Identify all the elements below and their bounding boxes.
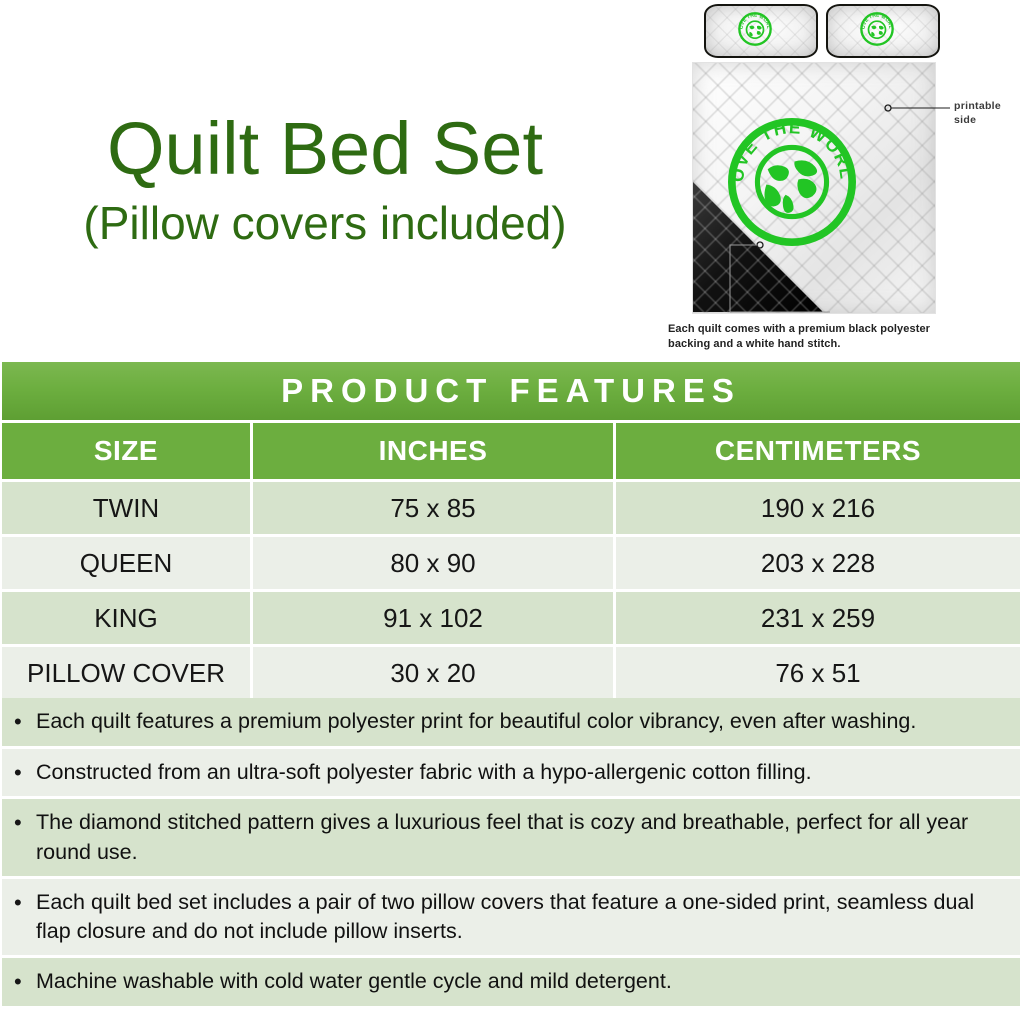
table-row: KING 91 x 102 231 x 259: [2, 592, 1020, 644]
bullet-text: Each quilt bed set includes a pair of tw…: [36, 888, 1010, 946]
bullet-marker-icon: •: [14, 888, 36, 918]
bullet-marker-icon: •: [14, 808, 36, 838]
cell-inches: 80 x 90: [253, 537, 613, 589]
cell-centimeters: 231 x 259: [616, 592, 1020, 644]
table-row: TWIN 75 x 85 190 x 216: [2, 482, 1020, 534]
list-item: • Each quilt bed set includes a pair of …: [2, 879, 1020, 955]
column-header-inches: INCHES: [253, 423, 613, 479]
table-banner-title: PRODUCT FEATURES: [2, 362, 1020, 420]
feature-bullet-list: • Each quilt features a premium polyeste…: [2, 698, 1020, 1009]
table-row: PILLOW COVER 30 x 20 76 x 51: [2, 647, 1020, 699]
list-item: • The diamond stitched pattern gives a l…: [2, 799, 1020, 875]
cell-centimeters: 190 x 216: [616, 482, 1020, 534]
bullet-text: Each quilt features a premium polyester …: [36, 707, 1010, 736]
page-subtitle: (Pillow covers included): [0, 200, 650, 246]
column-header-size: SIZE: [2, 423, 250, 479]
table-header-row: SIZE INCHES CENTIMETERS: [2, 423, 1020, 479]
printable-side-callout: printable side: [954, 99, 1024, 127]
cell-size: KING: [2, 592, 250, 644]
page-title: Quilt Bed Set: [0, 112, 650, 186]
bullet-text: Machine washable with cold water gentle …: [36, 967, 1010, 996]
list-item: • Each quilt features a premium polyeste…: [2, 698, 1020, 746]
bullet-marker-icon: •: [14, 758, 36, 788]
product-features-table: PRODUCT FEATURES SIZE INCHES CENTIMETERS…: [2, 362, 1020, 699]
title-block: Quilt Bed Set (Pillow covers included): [0, 112, 650, 246]
cell-inches: 30 x 20: [253, 647, 613, 699]
bullet-marker-icon: •: [14, 707, 36, 737]
bullet-text: The diamond stitched pattern gives a lux…: [36, 808, 1010, 866]
cell-centimeters: 76 x 51: [616, 647, 1020, 699]
love-the-world-logo-icon-pillow-right: LOVE THE WORLD: [860, 12, 894, 46]
cell-inches: 75 x 85: [253, 482, 613, 534]
list-item: • Machine washable with cold water gentl…: [2, 958, 1020, 1006]
cell-size: TWIN: [2, 482, 250, 534]
cell-inches: 91 x 102: [253, 592, 613, 644]
cell-centimeters: 203 x 228: [616, 537, 1020, 589]
product-art-caption: Each quilt comes with a premium black po…: [668, 322, 968, 352]
svg-text:LOVE THE WORLD: LOVE THE WORLD: [728, 118, 856, 183]
bullet-text: Constructed from an ultra-soft polyester…: [36, 758, 1010, 787]
cell-size: QUEEN: [2, 537, 250, 589]
love-the-world-logo-icon: LOVE THE WORLD: [728, 118, 856, 246]
column-header-centimeters: CENTIMETERS: [616, 423, 1020, 479]
cell-size: PILLOW COVER: [2, 647, 250, 699]
product-illustration: LOVE THE WORLD LOVE THE WORLD LOVE THE W…: [660, 0, 1024, 356]
bullet-marker-icon: •: [14, 967, 36, 997]
list-item: • Constructed from an ultra-soft polyest…: [2, 749, 1020, 797]
love-the-world-logo-icon-pillow-left: LOVE THE WORLD: [738, 12, 772, 46]
table-row: QUEEN 80 x 90 203 x 228: [2, 537, 1020, 589]
